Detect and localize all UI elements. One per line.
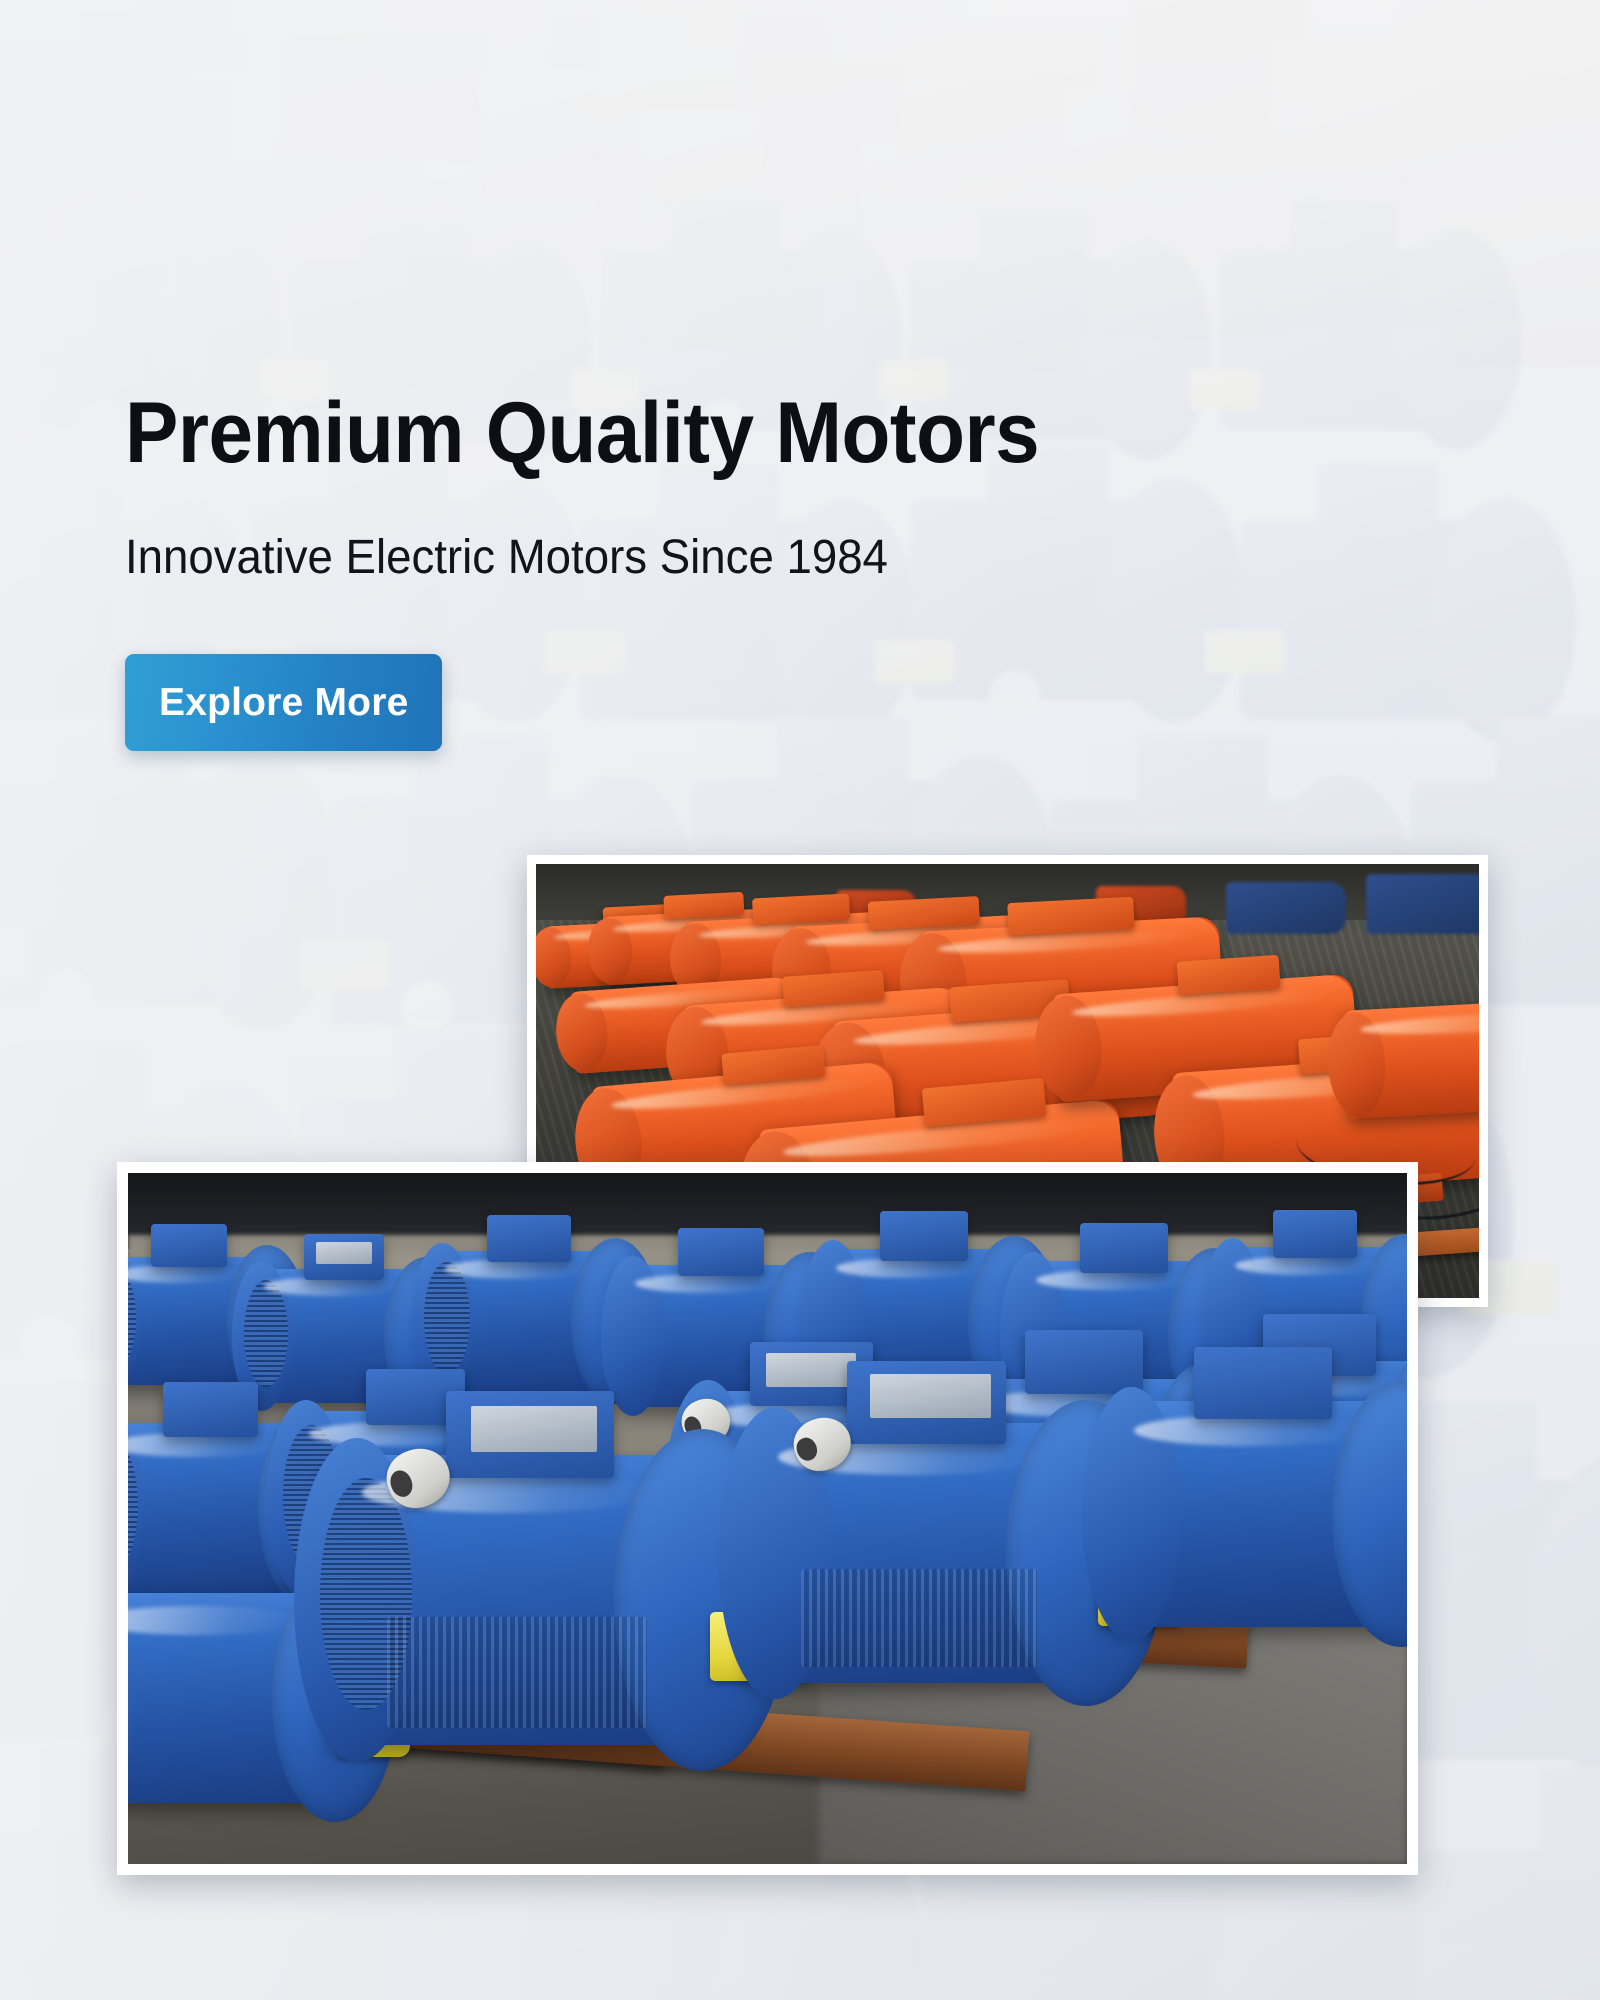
hero-copy-block: Premium Quality Motors Innovative Electr… [125, 390, 1325, 751]
hero-subtitle: Innovative Electric Motors Since 1984 [125, 534, 1265, 582]
page-title: Premium Quality Motors [125, 390, 1241, 476]
blue-motors-photo-card[interactable] [117, 1162, 1418, 1875]
blue-motors-photo [128, 1173, 1407, 1864]
hero-banner: Premium Quality Motors Innovative Electr… [0, 0, 1600, 2000]
explore-more-button[interactable]: Explore More [125, 654, 442, 751]
